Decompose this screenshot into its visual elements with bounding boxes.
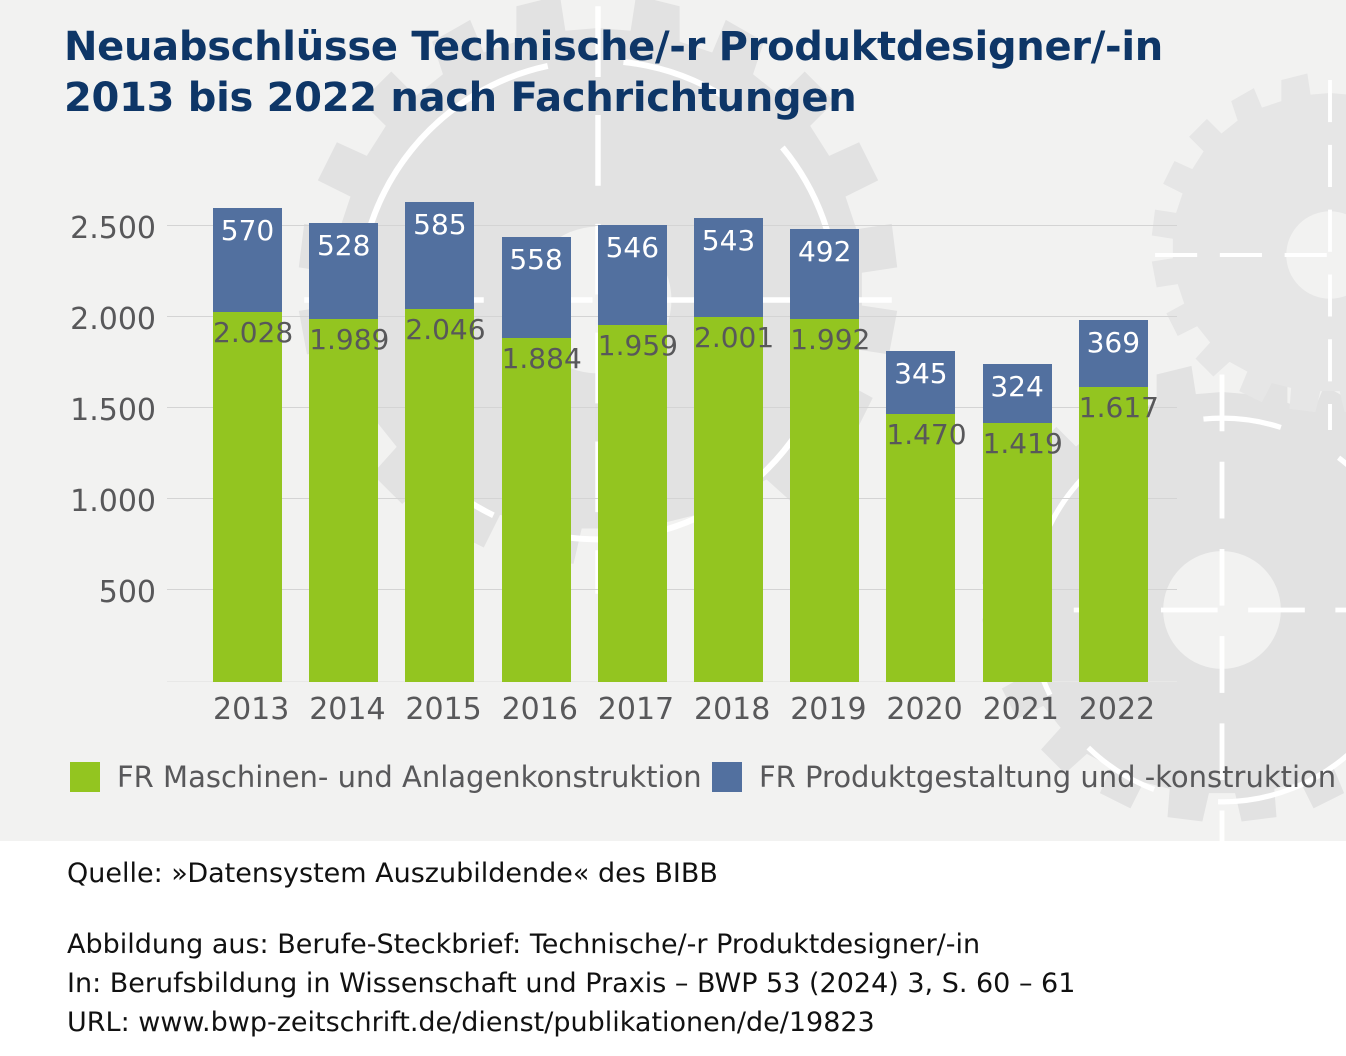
x-axis-tick-2015: 2015 — [405, 692, 474, 727]
x-axis-tick-2016: 2016 — [502, 692, 571, 727]
chart-panel: Neuabschlüsse Technische/-r Produktdesig… — [0, 0, 1346, 841]
bar-segment-maschinen-2018[interactable]: 2.001 — [694, 317, 763, 682]
bar-group-2018[interactable]: 2.001543 — [694, 218, 763, 682]
citation-url[interactable]: URL: www.bwp-zeitschrift.de/dienst/publi… — [67, 1007, 875, 1038]
bar-group-2016[interactable]: 1.884558 — [502, 237, 571, 682]
chart-legend: FR Maschinen- und Anlagenkonstruktion FR… — [0, 755, 1346, 805]
bar-group-2013[interactable]: 2.028570 — [213, 208, 282, 682]
y-axis-tick-label: 500 — [36, 575, 156, 610]
bar-value-label-produktgestaltung-2014: 528 — [309, 229, 378, 262]
legend-swatch-green — [70, 762, 100, 792]
legend-label: FR Maschinen- und Anlagenkonstruktion — [117, 760, 702, 794]
chart-title: Neuabschlüsse Technische/-r Produktdesig… — [64, 22, 1264, 124]
x-axis-tick-2019: 2019 — [790, 692, 859, 727]
bar-segment-produktgestaltung-2015[interactable]: 585 — [405, 202, 474, 309]
bar-segment-maschinen-2022[interactable]: 1.617 — [1079, 387, 1148, 682]
bar-segment-produktgestaltung-2014[interactable]: 528 — [309, 223, 378, 319]
plot-area: 2.0285701.9895282.0465851.8845581.959546… — [167, 180, 1177, 682]
x-axis-tick-2013: 2013 — [213, 692, 282, 727]
bar-segment-produktgestaltung-2019[interactable]: 492 — [790, 229, 859, 319]
citation-line-1: Abbildung aus: Berufe-Steckbrief: Techni… — [67, 929, 980, 960]
bar-group-2014[interactable]: 1.989528 — [309, 223, 378, 682]
bar-value-label-produktgestaltung-2018: 543 — [694, 224, 763, 257]
bar-group-2020[interactable]: 1.470345 — [886, 351, 955, 682]
x-axis-tick-2020: 2020 — [886, 692, 955, 727]
bar-value-label-maschinen-2021: 1.419 — [983, 427, 1052, 460]
x-axis-tick-2014: 2014 — [309, 692, 378, 727]
bar-value-label-produktgestaltung-2017: 546 — [598, 231, 667, 264]
bar-group-2017[interactable]: 1.959546 — [598, 225, 667, 682]
x-axis-tick-2021: 2021 — [983, 692, 1052, 727]
x-axis-tick-2018: 2018 — [694, 692, 763, 727]
bar-value-label-maschinen-2022: 1.617 — [1079, 391, 1148, 424]
bar-value-label-produktgestaltung-2019: 492 — [790, 235, 859, 268]
bar-group-2015[interactable]: 2.046585 — [405, 202, 474, 682]
footer: Quelle: »Datensystem Auszubildende« des … — [0, 841, 1346, 1056]
bar-segment-maschinen-2019[interactable]: 1.992 — [790, 319, 859, 682]
citation-line-2: In: Berufsbildung in Wissenschaft und Pr… — [67, 968, 1075, 999]
bar-value-label-produktgestaltung-2020: 345 — [886, 357, 955, 390]
y-axis-tick-label: 2.000 — [36, 302, 156, 337]
legend-label: FR Produktgestaltung und -konstruktion — [759, 760, 1336, 794]
bar-segment-produktgestaltung-2016[interactable]: 558 — [502, 237, 571, 339]
bar-value-label-produktgestaltung-2021: 324 — [983, 370, 1052, 403]
bar-segment-maschinen-2016[interactable]: 1.884 — [502, 338, 571, 682]
bar-value-label-maschinen-2020: 1.470 — [886, 418, 955, 451]
bar-segment-produktgestaltung-2022[interactable]: 369 — [1079, 320, 1148, 387]
bar-value-label-maschinen-2014: 1.989 — [309, 323, 378, 356]
bar-group-2022[interactable]: 1.617369 — [1079, 320, 1148, 682]
source-line: Quelle: »Datensystem Auszubildende« des … — [67, 858, 718, 889]
bar-segment-maschinen-2021[interactable]: 1.419 — [983, 423, 1052, 682]
bar-value-label-maschinen-2013: 2.028 — [213, 316, 282, 349]
y-axis-tick-label: 2.500 — [36, 211, 156, 246]
legend-item-maschinen[interactable]: FR Maschinen- und Anlagenkonstruktion — [70, 760, 702, 794]
bar-group-2021[interactable]: 1.419324 — [983, 364, 1052, 682]
bar-group-2019[interactable]: 1.992492 — [790, 229, 859, 682]
bar-value-label-produktgestaltung-2015: 585 — [405, 208, 474, 241]
legend-item-produktgestaltung[interactable]: FR Produktgestaltung und -konstruktion — [712, 760, 1336, 794]
bar-value-label-produktgestaltung-2022: 369 — [1079, 326, 1148, 359]
bar-value-label-maschinen-2016: 1.884 — [502, 342, 571, 375]
legend-swatch-blue — [712, 762, 742, 792]
y-axis-tick-label: 1.000 — [36, 484, 156, 519]
bar-segment-produktgestaltung-2013[interactable]: 570 — [213, 208, 282, 312]
bar-segment-maschinen-2017[interactable]: 1.959 — [598, 325, 667, 682]
bar-value-label-maschinen-2019: 1.992 — [790, 323, 859, 356]
x-axis-tick-2017: 2017 — [598, 692, 667, 727]
bar-value-label-produktgestaltung-2016: 558 — [502, 243, 571, 276]
y-axis-tick-label: 1.500 — [36, 393, 156, 428]
bar-value-label-maschinen-2015: 2.046 — [405, 313, 474, 346]
bar-segment-maschinen-2013[interactable]: 2.028 — [213, 312, 282, 682]
bar-segment-produktgestaltung-2021[interactable]: 324 — [983, 364, 1052, 423]
x-axis-tick-2022: 2022 — [1079, 692, 1148, 727]
bar-segment-produktgestaltung-2020[interactable]: 345 — [886, 351, 955, 414]
bar-segment-produktgestaltung-2017[interactable]: 546 — [598, 225, 667, 325]
bar-value-label-maschinen-2018: 2.001 — [694, 321, 763, 354]
bar-segment-maschinen-2015[interactable]: 2.046 — [405, 309, 474, 682]
bar-segment-produktgestaltung-2018[interactable]: 543 — [694, 218, 763, 317]
bar-value-label-maschinen-2017: 1.959 — [598, 329, 667, 362]
bar-segment-maschinen-2020[interactable]: 1.470 — [886, 414, 955, 682]
bar-segment-maschinen-2014[interactable]: 1.989 — [309, 319, 378, 682]
bar-value-label-produktgestaltung-2013: 570 — [213, 214, 282, 247]
